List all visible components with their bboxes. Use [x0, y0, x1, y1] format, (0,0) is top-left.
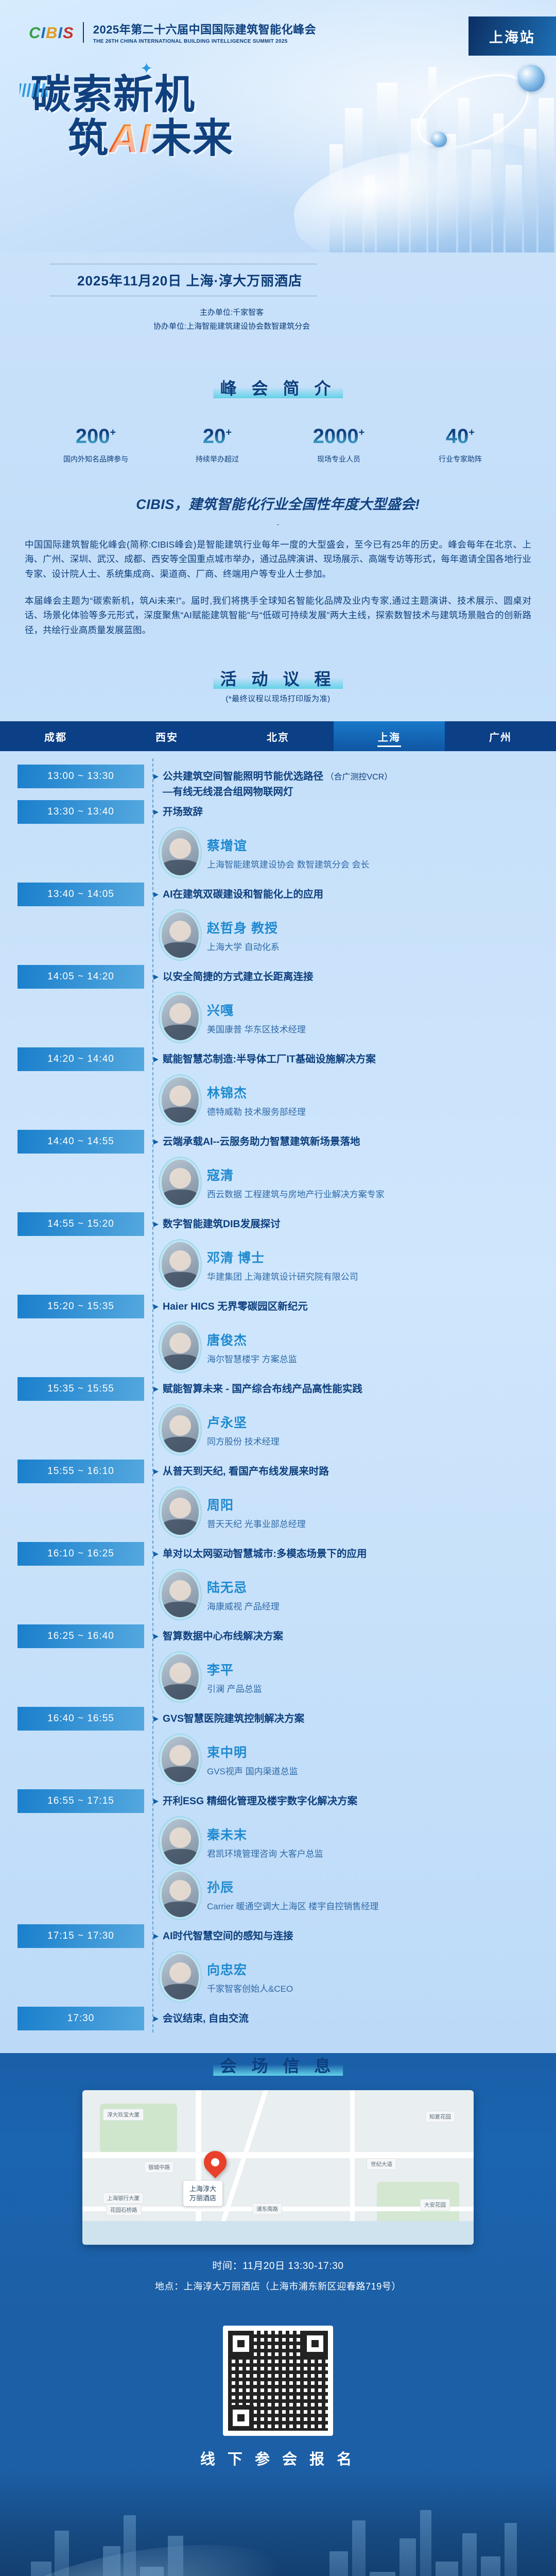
agenda-row: 14:05 ~ 14:20▶以安全简捷的方式建立长距离连接 [0, 965, 556, 991]
agenda-speaker: 孙辰Carrier 暖通空调大上海区 楼宇自控销售经理 [162, 1872, 556, 1917]
speaker-name: 林锦杰 [207, 1083, 306, 1101]
logo-divider [83, 22, 84, 43]
speaker-name: 赵哲身 教授 [207, 918, 280, 937]
agenda-speaker: 林锦杰德特威勒 技术服务部经理 [162, 1077, 556, 1123]
agenda-time: 17:15 ~ 17:30 [18, 1924, 144, 1948]
agenda-row: 15:55 ~ 16:10▶从普天到天纪, 看国产布线发展来时路 [0, 1460, 556, 1485]
triangle-bullet-icon: ▶ [153, 1221, 159, 1227]
agenda-topic-title: 云端承载AI--云服务助力智慧建筑新场景落地 [163, 1136, 360, 1147]
speaker-name: 秦未末 [207, 1825, 323, 1843]
agenda-topic-title: 赋能智慧芯制造:半导体工厂IT基础设施解决方案 [163, 1054, 376, 1065]
agenda-speaker: 束中明GVS视声 国内渠道总监 [162, 1737, 556, 1782]
speaker-avatar [162, 1872, 199, 1917]
agenda-row: 13:00 ~ 13:30▶公共建筑空间智能照明节能优选路径 （合广测控VCR）… [0, 765, 556, 800]
venue-map[interactable]: 上海淳大 万丽酒店 淳大玖宝大厦 银城中路 知夏花园 上海银行大厦 世纪大道 大… [82, 2090, 474, 2245]
map-poi-chip: 上海银行大厦 [103, 2192, 144, 2204]
intro-paragraph-2: 本届峰会主题为“碳索新机，筑Ai未来!”。届时,我们将携手全球知名智能化品牌及业… [25, 594, 531, 637]
agenda-row: 14:55 ~ 15:20▶数字智能建筑DIB发展探讨 [0, 1212, 556, 1238]
tab-guangzhou[interactable]: 广州 [445, 721, 556, 751]
triangle-bullet-icon: ▶ [153, 1633, 159, 1639]
agenda-time: 16:10 ~ 16:25 [18, 1542, 144, 1566]
logo-letter-s: S [63, 25, 74, 41]
triangle-bullet-icon: ▶ [153, 1933, 159, 1939]
speaker-avatar [162, 1737, 199, 1782]
venue-address: 地点：上海淳大万丽酒店（上海市浦东新区迎春路719号） [0, 2279, 556, 2293]
slogan-char-zhu: 筑 [68, 115, 109, 161]
speaker-title: 上海智能建筑建设协会 数智建筑分会 会长 [207, 857, 369, 870]
speaker-title: 同方股份 技术经理 [207, 1434, 280, 1447]
agenda-topic: ▶Haier HICS 无界零碳园区新纪元 [153, 1295, 556, 1313]
triangle-bullet-icon: ▶ [153, 1303, 159, 1310]
triangle-bullet-icon: ▶ [153, 1715, 159, 1722]
city-tabs: 成都 西安 北京 上海 广州 [0, 721, 556, 751]
speaker-avatar [162, 1242, 199, 1287]
agenda-row: 17:15 ~ 17:30▶AI时代智慧空间的感知与连接 [0, 1924, 556, 1950]
agenda-row: 16:10 ~ 16:25▶单对以太网驱动智慧城市:多模态场景下的应用 [0, 1542, 556, 1568]
map-venue-label: 上海淳大 万丽酒店 [183, 2181, 222, 2206]
agenda-speaker: 卢永坚同方股份 技术经理 [162, 1407, 556, 1452]
agenda-row: 15:20 ~ 15:35▶Haier HICS 无界零碳园区新纪元 [0, 1295, 556, 1320]
speaker-title: 普天天纪 光事业部总经理 [207, 1517, 306, 1530]
speaker-avatar [162, 1654, 199, 1700]
stat-label: 持续举办超过 [179, 454, 256, 464]
cibis-logo-mark: C I B I S [29, 25, 74, 41]
orb-large-icon [518, 65, 545, 92]
agenda-topic: ▶智算数据中心布线解决方案 [153, 1624, 556, 1643]
agenda-speaker: 秦未末君凯环境管理咨询 大客户总监 [162, 1819, 556, 1865]
triangle-bullet-icon: ▶ [153, 973, 159, 980]
agenda-topic: ▶云端承载AI--云服务助力智慧建筑新场景落地 [153, 1130, 556, 1148]
agenda-topic-title: 单对以太网驱动智慧城市:多模态场景下的应用 [163, 1548, 367, 1560]
venue-section: 会 场 信 息 上海淳大 万丽酒店 淳大玖宝大厦 银城中路 知夏花园 上海银行大… [0, 2053, 556, 2313]
agenda-speaker: 赵哲身 教授上海大学 自动化系 [162, 912, 556, 958]
date-venue-text: 2025年11月20日 上海·淳大万丽酒店 [77, 270, 556, 290]
agenda-topic-title: Haier HICS 无界零碳园区新纪元 [163, 1301, 308, 1312]
date-venue-block: 2025年11月20日 上海·淳大万丽酒店 主办单位:千家智客 协办单位:上海智… [0, 252, 556, 347]
agenda-topic-title: 以安全简捷的方式建立长距离连接 [163, 971, 314, 982]
agenda-time: 14:05 ~ 14:20 [18, 965, 144, 989]
intro-section-title: 峰 会 简 介 [220, 376, 336, 399]
agenda-row: 16:25 ~ 16:40▶智算数据中心布线解决方案 [0, 1624, 556, 1650]
agenda-speaker: 周阳普天天纪 光事业部总经理 [162, 1489, 556, 1535]
agenda-time: 16:40 ~ 16:55 [18, 1707, 144, 1731]
agenda-time: 13:40 ~ 14:05 [18, 883, 144, 906]
cohost-organizer: 协办单位:上海智能建筑建设协会数智建筑分会 [0, 319, 556, 333]
stat-number: 200+ [57, 426, 134, 447]
map-poi-chip: 浦东南路 [252, 2203, 282, 2215]
footer-illustration [0, 2469, 556, 2576]
summit-title-cn: 2025年第二十六届中国国际建筑智能化峰会 [93, 21, 316, 37]
agenda-speaker: 蔡增谊上海智能建筑建设协会 数智建筑分会 会长 [162, 830, 556, 875]
speaker-name: 李平 [207, 1660, 262, 1679]
map-location-pin-icon [199, 2146, 231, 2178]
agenda-time: 16:25 ~ 16:40 [18, 1624, 144, 1648]
intro-separator: - [0, 520, 556, 528]
agenda-topic: ▶单对以太网驱动智慧城市:多模态场景下的应用 [153, 1542, 556, 1561]
sparkle-icon: ✦ [140, 62, 154, 77]
speaker-avatar [162, 995, 199, 1040]
triangle-bullet-icon: ▶ [153, 1550, 159, 1557]
triangle-bullet-icon: ▶ [153, 1798, 159, 1804]
agenda-speaker: 寇清西云数据 工程建筑与房地产行业解决方案专家 [162, 1160, 556, 1205]
stat-item: 20+ 持续举办超过 [179, 426, 256, 464]
agenda-speaker: 向忠宏千家智客创始人&CEO [162, 1954, 556, 1999]
speaker-avatar [162, 1407, 199, 1452]
agenda-topic-title: 开场致辞 [163, 806, 203, 818]
tab-shanghai[interactable]: 上海 [334, 721, 445, 751]
triangle-bullet-icon: ▶ [153, 891, 159, 897]
speaker-title: 上海大学 自动化系 [207, 940, 280, 953]
agenda-row: 13:40 ~ 14:05▶AI在建筑双碳建设和智能化上的应用 [0, 883, 556, 908]
speaker-avatar [162, 1572, 199, 1617]
agenda-topic-title: 公共建筑空间智能照明节能优选路径 [163, 771, 323, 782]
agenda-speaker: 李平引澜 产品总监 [162, 1654, 556, 1700]
speaker-title: 德特威勒 技术服务部经理 [207, 1105, 306, 1117]
speaker-name: 孙辰 [207, 1877, 378, 1896]
agenda-row: 14:20 ~ 14:40▶赋能智慧芯制造:半导体工厂IT基础设施解决方案 [0, 1047, 556, 1073]
agenda-row: 14:40 ~ 14:55▶云端承载AI--云服务助力智慧建筑新场景落地 [0, 1130, 556, 1156]
speaker-name: 周阳 [207, 1495, 306, 1514]
agenda-section-title: 活 动 议 程 [220, 666, 336, 690]
agenda-speaker: 唐俊杰海尔智慧楼宇 方案总监 [162, 1325, 556, 1370]
dash-accent-icon [20, 83, 47, 97]
agenda-list: 13:00 ~ 13:30▶公共建筑空间智能照明节能优选路径 （合广测控VCR）… [0, 751, 556, 2038]
stat-item: 2000+ 现场专业人员 [300, 426, 377, 464]
agenda-time: 14:40 ~ 14:55 [18, 1130, 144, 1154]
triangle-bullet-icon: ▶ [153, 1138, 159, 1145]
intro-title-text: 峰 会 简 介 [220, 379, 336, 398]
stat-label: 现场专业人员 [300, 454, 377, 464]
agenda-time: 13:30 ~ 13:40 [18, 800, 144, 824]
speaker-avatar [162, 1489, 199, 1535]
agenda-time: 15:55 ~ 16:10 [18, 1460, 144, 1483]
triangle-bullet-icon: ▶ [153, 808, 159, 815]
speaker-title: 千家智客创始人&CEO [207, 1981, 293, 1994]
agenda-time: 15:35 ~ 15:55 [18, 1377, 144, 1401]
agenda-topic: ▶以安全简捷的方式建立长距离连接 [153, 965, 556, 984]
agenda-subtitle: (*最终议程以现场打印版为准) [0, 693, 556, 704]
agenda-topic-title: 数字智能建筑DIB发展探讨 [163, 1218, 281, 1230]
agenda-row: 15:35 ~ 15:55▶赋能智算未来 - 国产综合布线产品高性能实践 [0, 1377, 556, 1403]
map-poi-chip: 花园石桥路 [106, 2204, 142, 2216]
agenda-topic: ▶GVS智慧医院建筑控制解决方案 [153, 1707, 556, 1725]
stat-label: 国内外知名品牌参与 [57, 454, 134, 464]
map-road-horizontal-1 [82, 2152, 474, 2158]
intro-paragraph-1: 中国国际建筑智能化峰会(简称:CIBIS峰会)是智能建筑行业每年一度的大型盛会，… [25, 537, 531, 581]
agenda-topic: ▶公共建筑空间智能照明节能优选路径 （合广测控VCR）—有线无线混合组网物联网灯 [153, 765, 556, 798]
agenda-topic-note: （合广测控VCR） [323, 773, 392, 782]
skyline-illustration [329, 31, 556, 252]
map-water-area [82, 2221, 474, 2245]
signup-label: 线 下 参 会 报 名 [0, 2447, 556, 2469]
speaker-avatar [162, 830, 199, 875]
stat-number: 20+ [179, 426, 256, 447]
speaker-title: 西云数据 工程建筑与房地产行业解决方案专家 [207, 1187, 385, 1200]
agenda-topic: ▶从普天到天纪, 看国产布线发展来时路 [153, 1460, 556, 1478]
speaker-avatar [162, 1160, 199, 1205]
agenda-time: 14:20 ~ 14:40 [18, 1047, 144, 1071]
agenda-topic-subtitle: —有线无线混合组网物联网灯 [163, 783, 392, 798]
tab-xian[interactable]: 西安 [111, 721, 222, 751]
speaker-avatar [162, 912, 199, 958]
agenda-speaker: 邓清 博士华建集团 上海建筑设计研究院有限公司 [162, 1242, 556, 1287]
summit-title-en: THE 26TH CHINA INTERNATIONAL BUILDING IN… [93, 39, 316, 44]
agenda-topic-title: 从普天到天纪, 看国产布线发展来时路 [163, 1466, 329, 1477]
speaker-avatar [162, 1819, 199, 1865]
speaker-name: 邓清 博士 [207, 1248, 358, 1266]
hero-slogan: ✦ 碳索新机 筑AI未来 [31, 75, 234, 158]
agenda-topic-title: 开利ESG 精细化管理及楼宇数字化解决方案 [163, 1795, 357, 1807]
map-poi-chip: 银城中路 [144, 2161, 174, 2173]
qr-finder-icon [228, 2331, 254, 2357]
brand-logo: C I B I S 2025年第二十六届中国国际建筑智能化峰会 THE 26TH… [29, 21, 316, 44]
agenda-time: 17:30 [18, 2007, 144, 2030]
slogan-line-2: 筑AI未来 [68, 119, 234, 158]
qr-code[interactable] [223, 2326, 333, 2436]
slogan-rest-2: 未来 [151, 115, 234, 161]
venue-time: 时间：11月20日 13:30-17:30 [0, 2258, 556, 2272]
speaker-name: 束中明 [207, 1742, 298, 1761]
qr-finder-icon [302, 2331, 328, 2357]
logo-letter-b: B [46, 25, 57, 41]
speaker-title: GVS视声 国内渠道总监 [207, 1764, 298, 1777]
rule-top [49, 264, 317, 264]
triangle-bullet-icon: ▶ [153, 1468, 159, 1475]
speaker-title: 引澜 产品总监 [207, 1682, 262, 1694]
triangle-bullet-icon: ▶ [153, 1056, 159, 1062]
agenda-time: 16:55 ~ 17:15 [18, 1789, 144, 1813]
agenda-topic: ▶开利ESG 精细化管理及楼宇数字化解决方案 [153, 1789, 556, 1808]
speaker-avatar [162, 1954, 199, 1999]
speaker-name: 卢永坚 [207, 1413, 280, 1431]
slogan-ai: AI [109, 115, 151, 161]
speaker-name: 陆无忌 [207, 1578, 280, 1596]
logo-letter-c: C [29, 25, 40, 41]
intro-headline: CIBIS，建筑智能化行业全国性年度大型盛会! [0, 493, 556, 513]
agenda-time: 15:20 ~ 15:35 [18, 1295, 144, 1318]
orb-small-icon [431, 132, 447, 147]
agenda-topic: ▶赋能智慧芯制造:半导体工厂IT基础设施解决方案 [153, 1047, 556, 1066]
agenda-topic-title: GVS智慧医院建筑控制解决方案 [163, 1713, 304, 1724]
agenda-topic-title: AI时代智慧空间的感知与连接 [163, 1930, 293, 1942]
speaker-title: 海尔智慧楼宇 方案总监 [207, 1352, 297, 1365]
agenda-topic: ▶开场致辞 [153, 800, 556, 819]
map-poi-chip: 知夏花园 [425, 2111, 455, 2123]
map-poi-chip: 世纪大道 [367, 2158, 396, 2170]
agenda-topic-title: 赋能智算未来 - 国产综合布线产品高性能实践 [163, 1383, 362, 1395]
venue-title-text: 会 场 信 息 [220, 2057, 336, 2075]
agenda-topic: ▶数字智能建筑DIB发展探讨 [153, 1212, 556, 1231]
speaker-avatar [162, 1077, 199, 1123]
hero-banner: C I B I S 2025年第二十六届中国国际建筑智能化峰会 THE 26TH… [0, 0, 556, 252]
stat-item: 200+ 国内外知名品牌参与 [57, 426, 134, 464]
tab-chengdu[interactable]: 成都 [0, 721, 111, 751]
speaker-name: 寇清 [207, 1165, 385, 1184]
agenda-topic: ▶AI在建筑双碳建设和智能化上的应用 [153, 883, 556, 901]
rule-bottom [49, 296, 317, 296]
slogan-line-1: ✦ 碳索新机 [31, 75, 234, 114]
stats-row: 200+ 国内外知名品牌参与 20+ 持续举办超过 2000+ 现场专业人员 4… [0, 426, 556, 464]
agenda-speaker: 兴嘎美国康普 华东区技术经理 [162, 995, 556, 1040]
speaker-name: 蔡增谊 [207, 836, 369, 854]
agenda-time: 14:55 ~ 15:20 [18, 1212, 144, 1236]
agenda-topic: ▶会议结束, 自由交流 [153, 2007, 556, 2025]
speaker-title: Carrier 暖通空调大上海区 楼宇自控销售经理 [207, 1899, 378, 1912]
qr-finder-icon [228, 2405, 254, 2431]
agenda-row: 13:30 ~ 13:40▶开场致辞 [0, 800, 556, 826]
stat-item: 40+ 行业专家助阵 [422, 426, 499, 464]
triangle-bullet-icon: ▶ [153, 1385, 159, 1392]
agenda-time: 13:00 ~ 13:30 [18, 765, 144, 788]
speaker-name: 唐俊杰 [207, 1330, 297, 1349]
venue-section-title: 会 场 信 息 [220, 2053, 336, 2077]
speaker-name: 向忠宏 [207, 1960, 293, 1978]
tab-beijing[interactable]: 北京 [222, 721, 334, 751]
triangle-bullet-icon: ▶ [153, 773, 159, 779]
stat-label: 行业专家助阵 [422, 454, 499, 464]
agenda-topic-title: 智算数据中心布线解决方案 [163, 1631, 283, 1642]
map-poi-chip: 大安花园 [420, 2199, 450, 2211]
agenda-row: 17:30▶会议结束, 自由交流 [0, 2007, 556, 2032]
agenda-topic: ▶AI时代智慧空间的感知与连接 [153, 1924, 556, 1943]
speaker-title: 海康威视 产品经理 [207, 1599, 280, 1612]
stat-number: 40+ [422, 426, 499, 447]
logo-letter-i1: I [41, 25, 45, 41]
host-organizer: 主办单位:千家智客 [0, 306, 556, 319]
qr-pattern [228, 2331, 328, 2431]
speaker-avatar [162, 1325, 199, 1370]
agenda-row: 16:55 ~ 17:15▶开利ESG 精细化管理及楼宇数字化解决方案 [0, 1789, 556, 1815]
triangle-bullet-icon: ▶ [153, 2015, 159, 2022]
agenda-topic-title: AI在建筑双碳建设和智能化上的应用 [163, 889, 323, 900]
logo-letter-i2: I [58, 25, 62, 41]
speaker-title: 美国康普 华东区技术经理 [207, 1022, 306, 1035]
signup-section: 线 下 参 会 报 名 [0, 2313, 556, 2469]
map-poi-chip: 淳大玖宝大厦 [103, 2109, 144, 2121]
agenda-title-text: 活 动 议 程 [220, 670, 336, 688]
agenda-row: 16:40 ~ 16:55▶GVS智慧医院建筑控制解决方案 [0, 1707, 556, 1733]
slogan-rest-1: 索新机 [72, 72, 196, 117]
speaker-title: 华建集团 上海建筑设计研究院有限公司 [207, 1269, 358, 1282]
agenda-speaker: 陆无忌海康威视 产品经理 [162, 1572, 556, 1617]
agenda-topic-title: 会议结束, 自由交流 [163, 2013, 249, 2024]
speaker-name: 兴嘎 [207, 1001, 306, 1019]
agenda-topic: ▶赋能智算未来 - 国产综合布线产品高性能实践 [153, 1377, 556, 1396]
city-badge: 上海站 [468, 16, 556, 56]
speaker-title: 君凯环境管理咨询 大客户总监 [207, 1846, 323, 1859]
stat-number: 2000+ [300, 426, 377, 447]
